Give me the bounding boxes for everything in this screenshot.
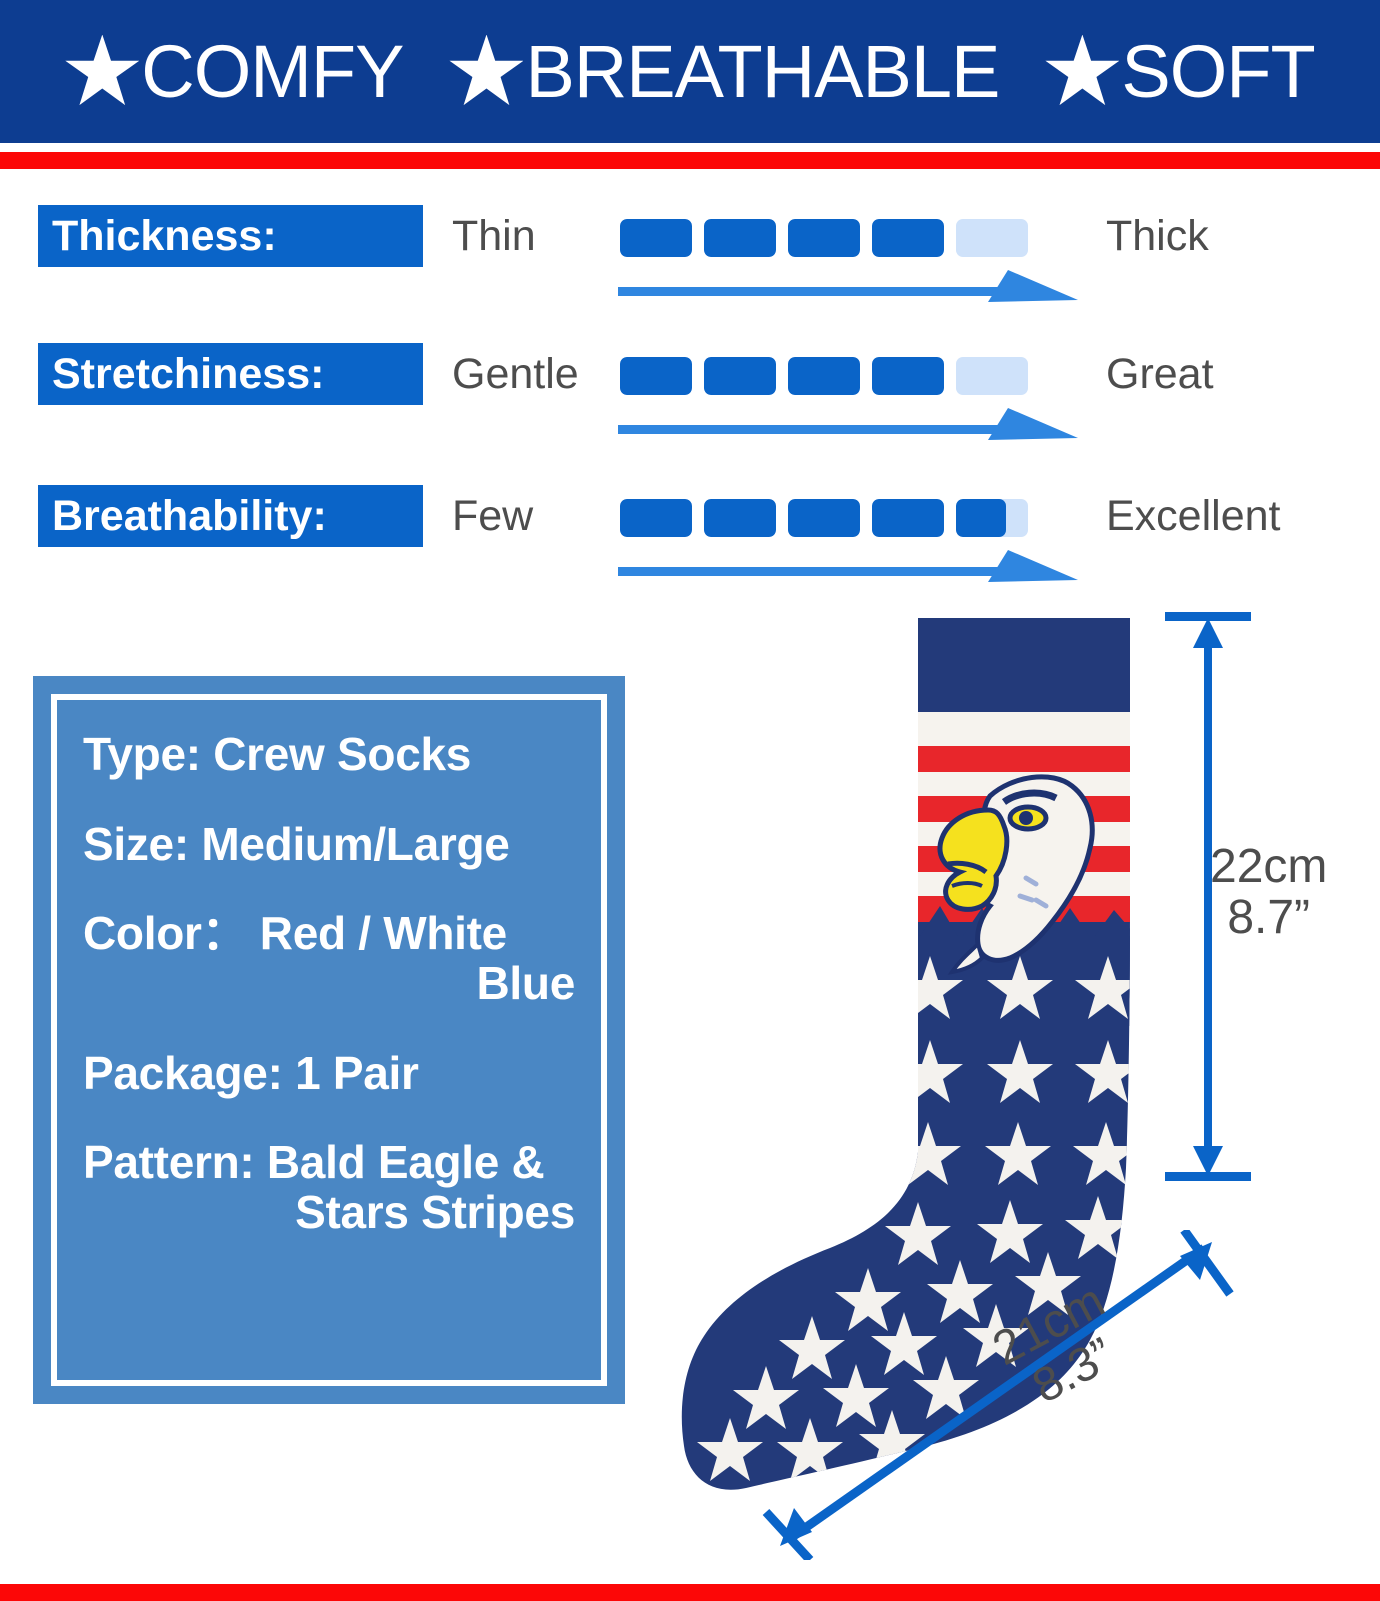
rating-label-stretchiness: Stretchiness: — [38, 343, 423, 405]
rating-segment — [704, 499, 776, 537]
rating-segment — [788, 357, 860, 395]
rating-low-label-thickness: Thin — [452, 207, 536, 265]
star-icon — [65, 35, 139, 109]
rating-segments-thickness — [620, 219, 1028, 257]
rating-segment — [620, 499, 692, 537]
product-info-inner-border: Type: Crew Socks Size: Medium/Large Colo… — [51, 694, 607, 1386]
feature-soft-label: SOFT — [1121, 35, 1314, 109]
rating-arrow-stretchiness — [618, 408, 1078, 450]
rating-row-stretchiness: Stretchiness: Gentle Great — [0, 343, 1380, 463]
feature-comfy-label: COMFY — [141, 35, 403, 109]
rating-segment — [956, 499, 1028, 537]
rating-arrow-breathability — [618, 550, 1078, 592]
feature-banner: COMFY BREATHABLE SOFT — [0, 0, 1380, 143]
rating-segment — [872, 499, 944, 537]
rating-segment — [956, 219, 1028, 257]
rating-low-label-breathability: Few — [452, 487, 533, 545]
rating-segment — [872, 357, 944, 395]
info-line-color: Color： Red / White — [83, 909, 575, 959]
rating-row-thickness: Thickness: Thin Thick — [0, 205, 1380, 325]
rating-high-label-breathability: Excellent — [1106, 487, 1280, 545]
rating-row-breathability: Breathability: Few Excellent — [0, 485, 1380, 605]
rating-segment — [872, 219, 944, 257]
height-inch: 8.7” — [1210, 893, 1327, 944]
rating-segment — [956, 357, 1028, 395]
rating-label-thickness: Thickness: — [38, 205, 423, 267]
rating-high-label-stretchiness: Great — [1106, 345, 1214, 403]
info-line-package: Package: 1 Pair — [83, 1049, 575, 1099]
info-line-type: Type: Crew Socks — [83, 730, 575, 780]
info-line-pattern-cont: Stars Stripes — [83, 1188, 575, 1238]
rating-segment — [704, 219, 776, 257]
height-dimension-label: 22cm 8.7” — [1210, 842, 1327, 944]
feature-soft: SOFT — [1045, 35, 1314, 109]
red-stripe-top — [0, 152, 1380, 169]
info-line-color-cont: Blue — [83, 959, 575, 1009]
star-icon — [449, 35, 523, 109]
info-line-size: Size: Medium/Large — [83, 820, 575, 870]
rating-arrow-thickness — [618, 270, 1078, 312]
product-info-panel: Type: Crew Socks Size: Medium/Large Colo… — [33, 676, 625, 1404]
red-stripe-bottom — [0, 1584, 1380, 1601]
rating-segment — [788, 219, 860, 257]
rating-segments-breathability — [620, 499, 1028, 537]
rating-segment — [620, 219, 692, 257]
rating-low-label-stretchiness: Gentle — [452, 345, 579, 403]
rating-segment — [788, 499, 860, 537]
rating-segments-stretchiness — [620, 357, 1028, 395]
rating-segment — [620, 357, 692, 395]
feature-comfy: COMFY — [65, 35, 403, 109]
rating-label-breathability: Breathability: — [38, 485, 423, 547]
rating-high-label-thickness: Thick — [1106, 207, 1209, 265]
star-icon — [1045, 35, 1119, 109]
feature-breathable: BREATHABLE — [449, 35, 999, 109]
rating-segment — [704, 357, 776, 395]
height-cm: 22cm — [1210, 842, 1327, 893]
feature-breathable-label: BREATHABLE — [525, 35, 999, 109]
info-line-pattern: Pattern: Bald Eagle & — [83, 1138, 575, 1188]
length-dimension-arrow — [760, 1230, 1240, 1565]
